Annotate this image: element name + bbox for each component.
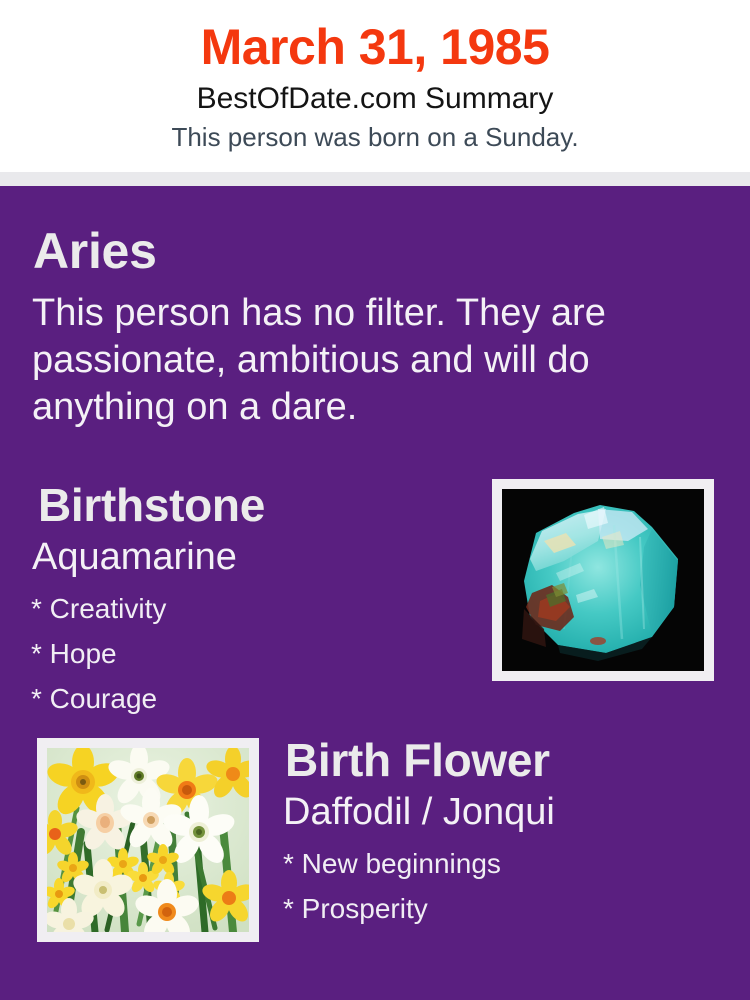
birth-flower-trait-list: * New beginnings * Prosperity [283, 841, 723, 931]
birthstone-name: Aquamarine [32, 534, 237, 580]
birthstone-title: Birthstone [38, 478, 265, 532]
list-item: * Creativity [31, 586, 451, 631]
birth-day-note: This person was born on a Sunday. [0, 121, 750, 153]
header-divider [0, 172, 750, 186]
birthstone-trait-list: * Creativity * Hope * Courage [31, 586, 451, 721]
birth-flower-name: Daffodil / Jonqui [283, 789, 555, 835]
birthstone-image-frame [492, 479, 714, 681]
summary-card: March 31, 1985 BestOfDate.com Summary Th… [0, 0, 750, 1000]
list-item: * Courage [31, 676, 451, 721]
zodiac-sign-title: Aries [33, 222, 157, 280]
page-title-date: March 31, 1985 [0, 18, 750, 76]
daffodil-field-photo [47, 748, 249, 932]
details-panel: Aries This person has no filter. They ar… [0, 186, 750, 1000]
birth-flower-image-frame [37, 738, 259, 942]
list-item: * Prosperity [283, 886, 723, 931]
source-subtitle: BestOfDate.com Summary [0, 80, 750, 118]
list-item: * New beginnings [283, 841, 723, 886]
zodiac-sign-description: This person has no filter. They are pass… [32, 290, 672, 431]
list-item: * Hope [31, 631, 451, 676]
aquamarine-crystal-photo [502, 489, 704, 671]
card-header: March 31, 1985 BestOfDate.com Summary Th… [0, 0, 750, 172]
birth-flower-title: Birth Flower [285, 733, 550, 787]
